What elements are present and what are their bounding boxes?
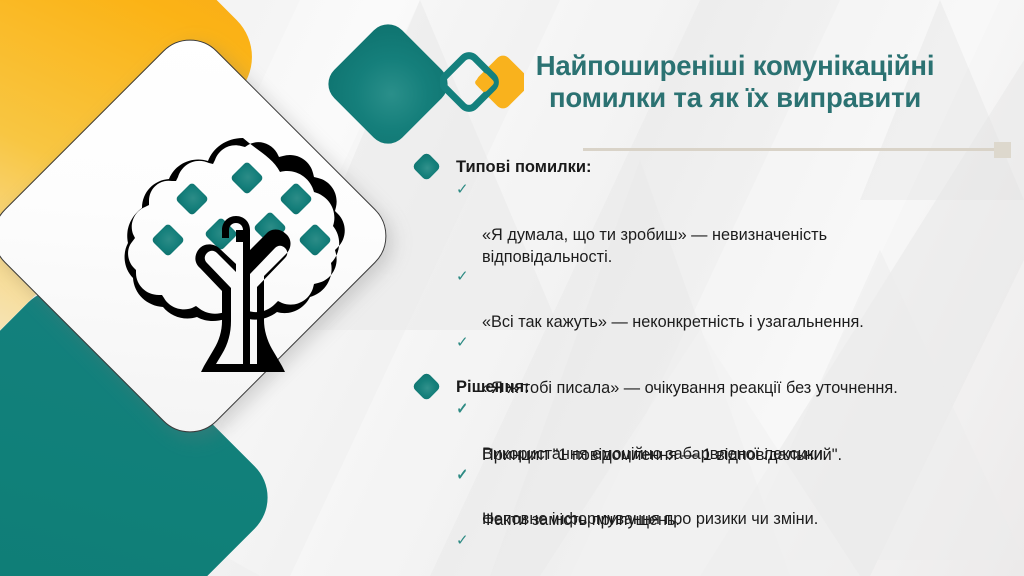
list-item: ✓ «Всі так кажуть» — неконкретність і уз… (456, 268, 1024, 334)
page-title-line-2: помилки та як їх виправити (450, 82, 1020, 114)
check-icon: ✓ (456, 180, 469, 201)
section-heading: Рішення: (408, 378, 1024, 398)
section-heading-label: Типові помилки: (456, 158, 592, 176)
check-icon: ✓ (456, 466, 469, 487)
list-item: ✓ «Я думала, що ти зробиш» — невизначені… (456, 181, 1024, 269)
list-item: ✓ Принцип "1 повідомлення — 1 відповідал… (456, 401, 1024, 467)
section-solutions: Рішення: ✓ Принцип "1 повідомлення — 1 в… (408, 378, 1024, 576)
header-divider (583, 148, 995, 151)
page-title: Найпоширеніші комунікаційні помилки та я… (450, 50, 1020, 114)
list-item-text: «Всі так кажуть» — неконкретність і узаг… (482, 313, 864, 331)
page-title-line-1: Найпоширеніші комунікаційні (450, 50, 1020, 82)
check-icon: ✓ (456, 333, 469, 354)
check-icon: ✓ (456, 400, 469, 421)
section-heading: Типові помилки: (408, 158, 1024, 178)
list-item-text: «Я думала, що ти зробиш» — невизначеніст… (482, 226, 827, 266)
check-icon: ✓ (456, 267, 469, 288)
solutions-list: ✓ Принцип "1 повідомлення — 1 відповідал… (408, 401, 1024, 576)
list-item: ✓ Факти замість припущень. (456, 467, 1024, 533)
check-icon: ✓ (456, 531, 469, 552)
slide-canvas: Найпоширеніші комунікаційні помилки та я… (0, 0, 1024, 576)
list-item: ✓ Уточнення: «Підтверди, будь ласка, отр… (456, 532, 1024, 576)
section-heading-label: Рішення: (456, 378, 530, 396)
list-item-text: Факти замість припущень. (482, 511, 680, 529)
list-item-text: Принцип "1 повідомлення — 1 відповідальн… (482, 446, 842, 464)
header-divider-cap (994, 142, 1011, 158)
